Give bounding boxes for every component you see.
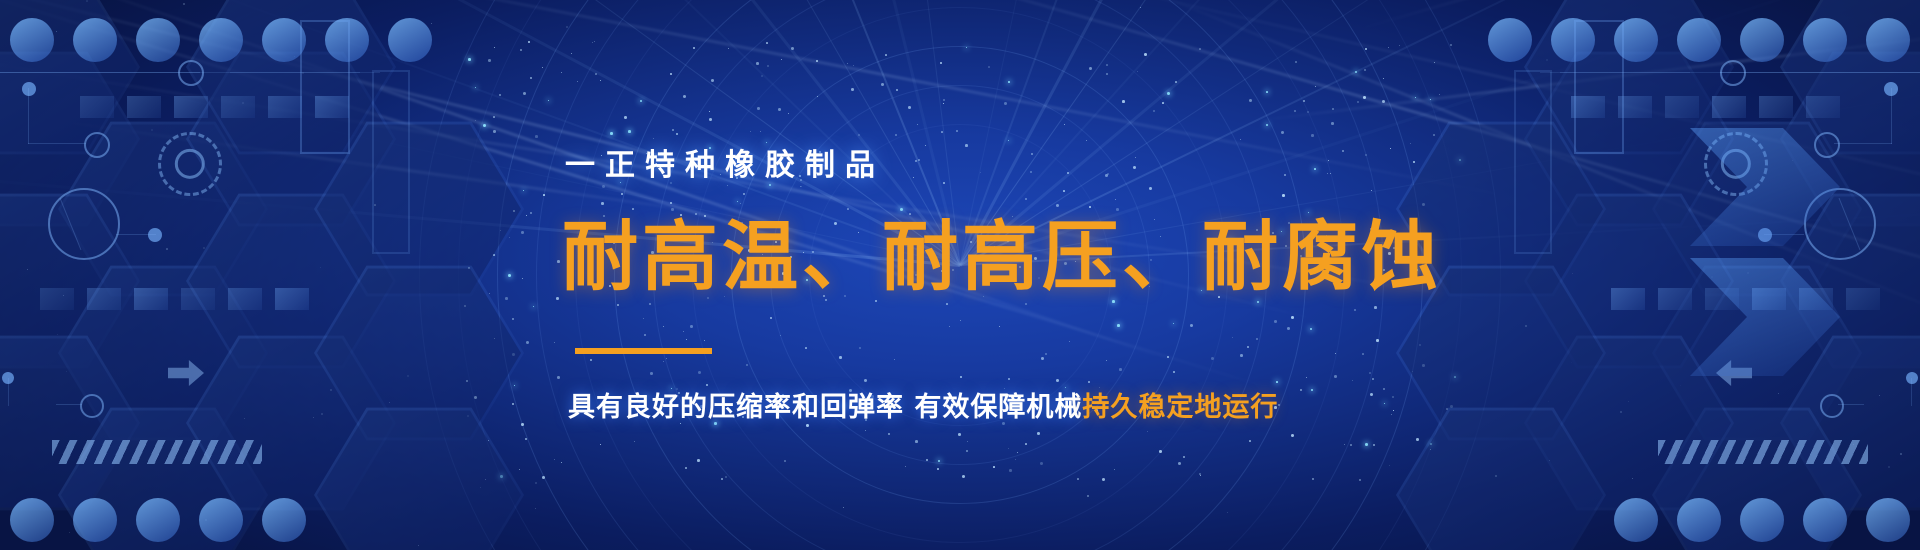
banner-subtitle: 一正特种橡胶制品 xyxy=(565,140,885,184)
banner-headline: 耐高温、耐高压、耐腐蚀 xyxy=(562,195,1442,305)
accent-divider xyxy=(575,348,712,354)
banner-tagline: 具有良好的压缩率和回弹率 有效保障机械持久稳定地运行 xyxy=(568,385,1278,424)
tagline-plain-text: 具有良好的压缩率和回弹率 有效保障机械 xyxy=(568,392,1082,423)
hero-banner: 一正特种橡胶制品 耐高温、耐高压、耐腐蚀 具有良好的压缩率和回弹率 有效保障机械… xyxy=(0,0,1920,550)
banner-content: 一正特种橡胶制品 耐高温、耐高压、耐腐蚀 具有良好的压缩率和回弹率 有效保障机械… xyxy=(0,0,1920,550)
tagline-highlight-text: 持久稳定地运行 xyxy=(1082,392,1278,423)
